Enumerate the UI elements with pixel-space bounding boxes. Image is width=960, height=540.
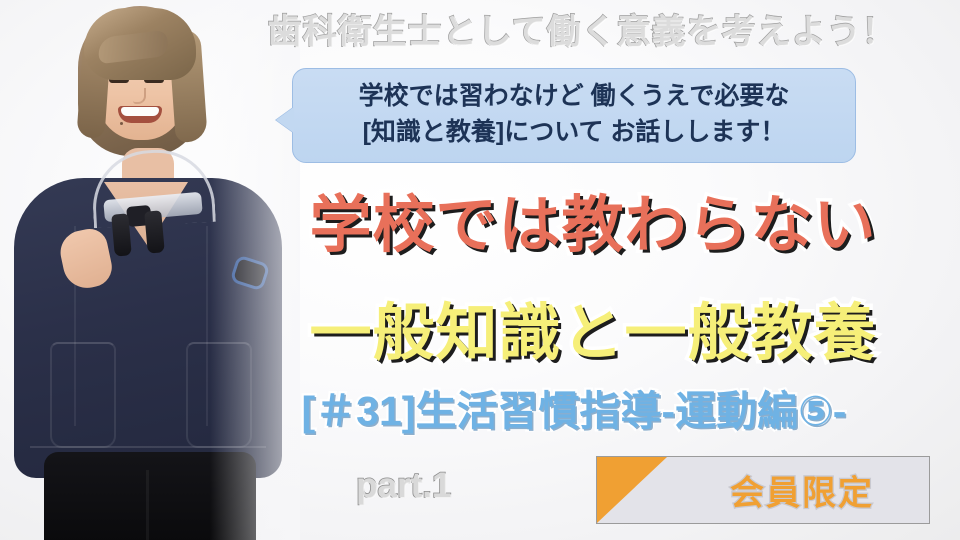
main-title-line-yellow: 一般知識と一般教養 xyxy=(248,282,938,372)
top-headline: 歯科衛生士として働く意義を考えよう！ xyxy=(212,4,952,53)
speech-bubble-line-2: [知識と教養]について お話しします！ xyxy=(309,115,839,151)
mouth xyxy=(118,106,162,123)
main-title-line-orange: 学校では教わらない xyxy=(248,174,938,264)
scrub-pocket-left xyxy=(50,342,116,448)
presenter-photo xyxy=(0,0,300,540)
part-label: part.1 xyxy=(356,466,451,506)
speech-bubble-line-1: 学校では習わなけど 働くうえで必要な xyxy=(309,79,839,115)
members-only-badge: 会員限定 xyxy=(596,456,930,524)
badge-corner-triangle xyxy=(597,457,667,523)
speech-bubble-tail xyxy=(276,107,294,133)
speech-bubble: 学校では習わなけど 働くうえで必要な [知識と教養]について お話しします！ xyxy=(292,68,856,163)
episode-title: [＃31]生活習慣指導-運動編⑤- xyxy=(214,377,934,437)
teeth xyxy=(121,107,159,116)
scrub-hem xyxy=(30,446,266,448)
video-thumbnail: 歯科衛生士として働く意義を考えよう！ 学校では習わなけど 働くうえで必要な [知… xyxy=(0,0,960,540)
mole xyxy=(120,122,123,125)
badge-label: 会員限定 xyxy=(689,466,915,515)
black-pants xyxy=(44,452,256,540)
hair-front xyxy=(84,8,196,80)
loupes-barrel-right xyxy=(144,210,165,253)
loupes-barrel-left xyxy=(111,213,132,256)
